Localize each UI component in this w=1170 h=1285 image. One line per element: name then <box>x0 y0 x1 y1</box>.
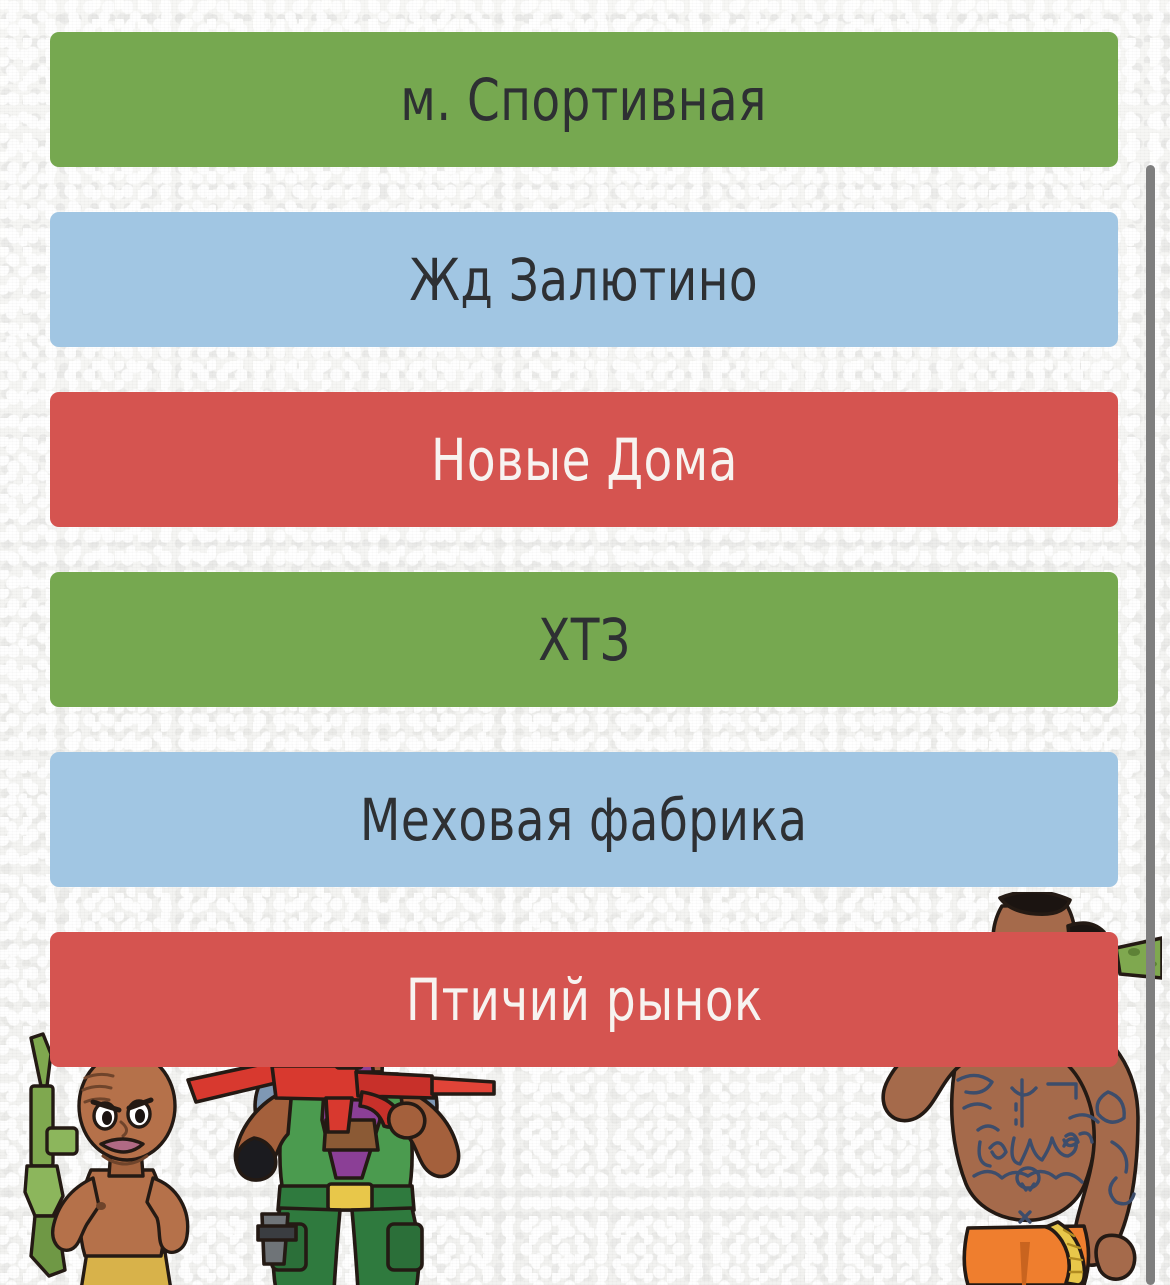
vertical-scrollbar-track[interactable] <box>1146 165 1155 1285</box>
district-button-label: Птичий рынок <box>406 971 763 1029</box>
district-button-label: Жд Залютино <box>410 251 759 309</box>
district-button-sportivnaya[interactable]: м. Спортивная <box>50 32 1118 167</box>
district-button-label: Меховая фабрика <box>360 791 808 849</box>
district-button-mekhovaya-fabrika[interactable]: Меховая фабрика <box>50 752 1118 887</box>
district-button-label: ХТЗ <box>538 611 630 669</box>
district-button-novye-doma[interactable]: Новые Дома <box>50 392 1118 527</box>
vertical-scrollbar-thumb[interactable] <box>1146 165 1155 1285</box>
district-button-label: Новые Дома <box>431 431 738 489</box>
district-button-label: м. Спортивная <box>401 71 767 129</box>
district-button-zhd-zalyutino[interactable]: Жд Залютино <box>50 212 1118 347</box>
district-button-khtz[interactable]: ХТЗ <box>50 572 1118 707</box>
district-button-ptichiy-rynok[interactable]: Птичий рынок <box>50 932 1118 1067</box>
district-button-list: м. Спортивная Жд Залютино Новые Дома ХТЗ… <box>50 32 1118 1112</box>
